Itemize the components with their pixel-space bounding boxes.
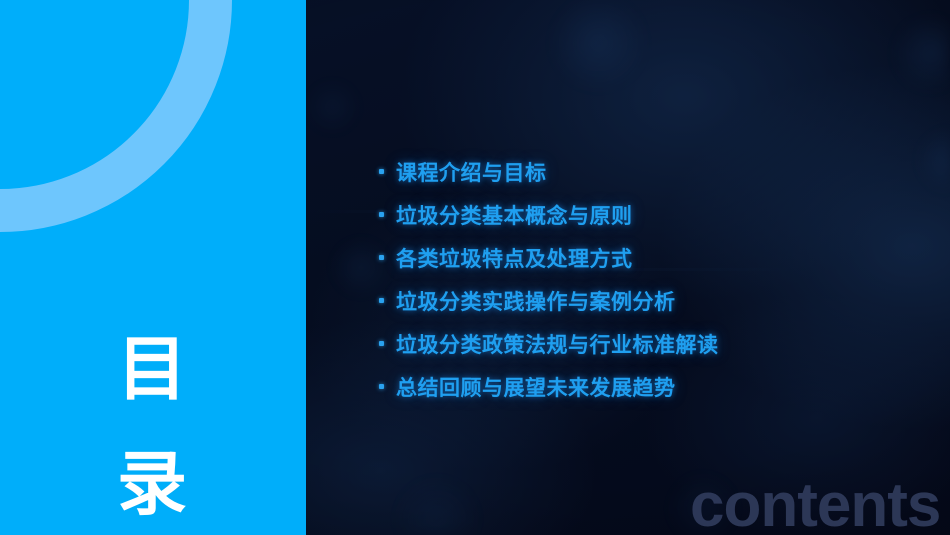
list-item[interactable]: 各类垃圾特点及处理方式 bbox=[379, 236, 899, 279]
list-item[interactable]: 垃圾分类政策法规与行业标准解读 bbox=[379, 322, 899, 365]
dot-bullet-icon bbox=[379, 384, 384, 389]
list-item[interactable]: 课程介绍与目标 bbox=[379, 150, 899, 193]
list-item[interactable]: 垃圾分类实践操作与案例分析 bbox=[379, 279, 899, 322]
list-item[interactable]: 总结回顾与展望未来发展趋势 bbox=[379, 365, 899, 408]
dot-bullet-icon bbox=[379, 212, 384, 217]
page-title: 目 录 bbox=[0, 312, 306, 535]
list-item-label: 各类垃圾特点及处理方式 bbox=[396, 243, 633, 273]
list-item[interactable]: 垃圾分类基本概念与原则 bbox=[379, 193, 899, 236]
table-of-contents-list: 课程介绍与目标 垃圾分类基本概念与原则 各类垃圾特点及处理方式 垃圾分类实践操作… bbox=[379, 150, 899, 408]
ring-arc-decoration bbox=[0, 0, 232, 232]
slide-canvas: 目 录 课程介绍与目标 垃圾分类基本概念与原则 各类垃圾特点及处理方式 垃圾分类… bbox=[0, 0, 950, 535]
dot-bullet-icon bbox=[379, 255, 384, 260]
page-title-char-1: 目 bbox=[0, 312, 306, 427]
contents-watermark: contents bbox=[690, 470, 940, 535]
dot-bullet-icon bbox=[379, 341, 384, 346]
left-blue-panel: 目 录 bbox=[0, 0, 306, 535]
list-item-label: 总结回顾与展望未来发展趋势 bbox=[396, 372, 676, 402]
dot-bullet-icon bbox=[379, 298, 384, 303]
page-title-char-2: 录 bbox=[0, 427, 306, 535]
list-item-label: 垃圾分类基本概念与原则 bbox=[396, 200, 633, 230]
list-item-label: 垃圾分类政策法规与行业标准解读 bbox=[396, 329, 719, 359]
list-item-label: 课程介绍与目标 bbox=[396, 157, 547, 187]
list-item-label: 垃圾分类实践操作与案例分析 bbox=[396, 286, 676, 316]
dot-bullet-icon bbox=[379, 169, 384, 174]
